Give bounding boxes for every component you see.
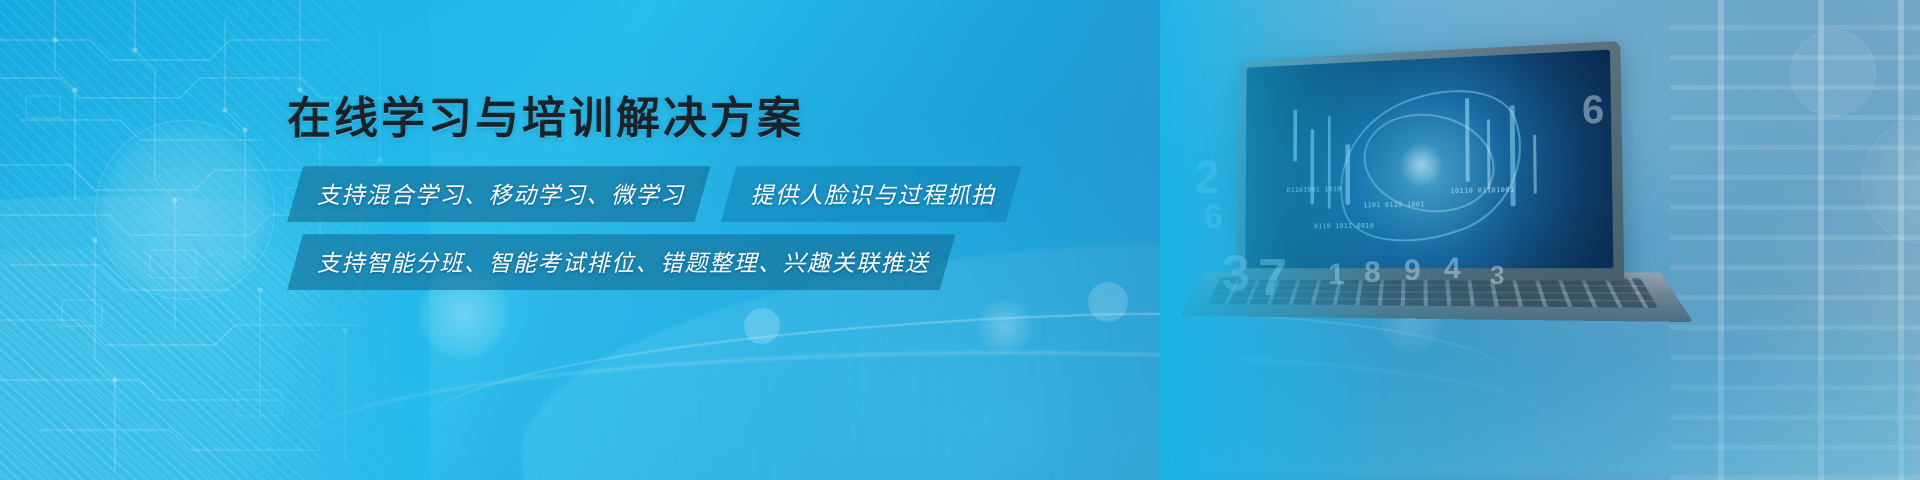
pill-face-recognition-capture[interactable]: 提供人脸识与过程抓拍: [721, 166, 1022, 222]
pill-smart-class-exam-mistakes-recommend[interactable]: 支持智能分班、智能考试排位、错题整理、兴趣关联推送: [287, 234, 956, 290]
pill-blended-mobile-micro-learning[interactable]: 支持混合学习、移动学习、微学习: [287, 166, 711, 222]
laptop-photo-scene: 01101001 1010 1101 0110 1001 10110 01101…: [1160, 0, 1920, 480]
banner-content: 在线学习与培训解决方案 支持混合学习、移动学习、微学习 提供人脸识与过程抓拍 支…: [287, 96, 1047, 290]
promo-banner: 01101001 1010 1101 0110 1001 10110 01101…: [0, 0, 1920, 480]
feature-pill-row-2: 支持智能分班、智能考试排位、错题整理、兴趣关联推送: [287, 234, 1047, 290]
photo-blend-mask: [1160, 0, 1920, 480]
feature-pill-row-1: 支持混合学习、移动学习、微学习 提供人脸识与过程抓拍: [287, 166, 1047, 222]
page-title: 在线学习与培训解决方案: [287, 96, 1047, 142]
